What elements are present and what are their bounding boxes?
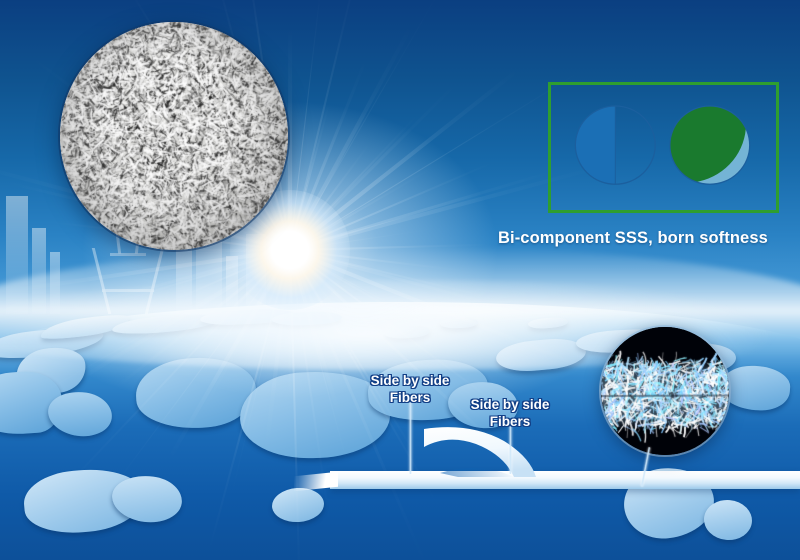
crescent-circle	[670, 106, 750, 186]
leader-line-left	[409, 402, 412, 474]
callout-left-line2: Fibers	[355, 389, 465, 406]
nonwoven-fiber-surface-micrograph	[60, 22, 288, 250]
callout-right: Side by side Fibers	[455, 396, 565, 430]
tagline: Bi-component SSS, born softness	[498, 229, 798, 248]
callout-left: Side by side Fibers	[355, 372, 465, 406]
leader-line-right	[509, 424, 512, 474]
bicomponent-fiber-diagram	[548, 82, 779, 213]
promo-graphic: Bi-component SSS, born softness	[0, 0, 800, 560]
callout-right-line1: Side by side	[455, 396, 565, 413]
callout-right-line2: Fibers	[455, 413, 565, 430]
fiber-cross-section-micrograph	[601, 327, 729, 455]
nonwoven-fabric-sheet	[418, 425, 568, 485]
callout-left-line1: Side by side	[355, 372, 465, 389]
side-by-side-circle	[575, 106, 655, 184]
